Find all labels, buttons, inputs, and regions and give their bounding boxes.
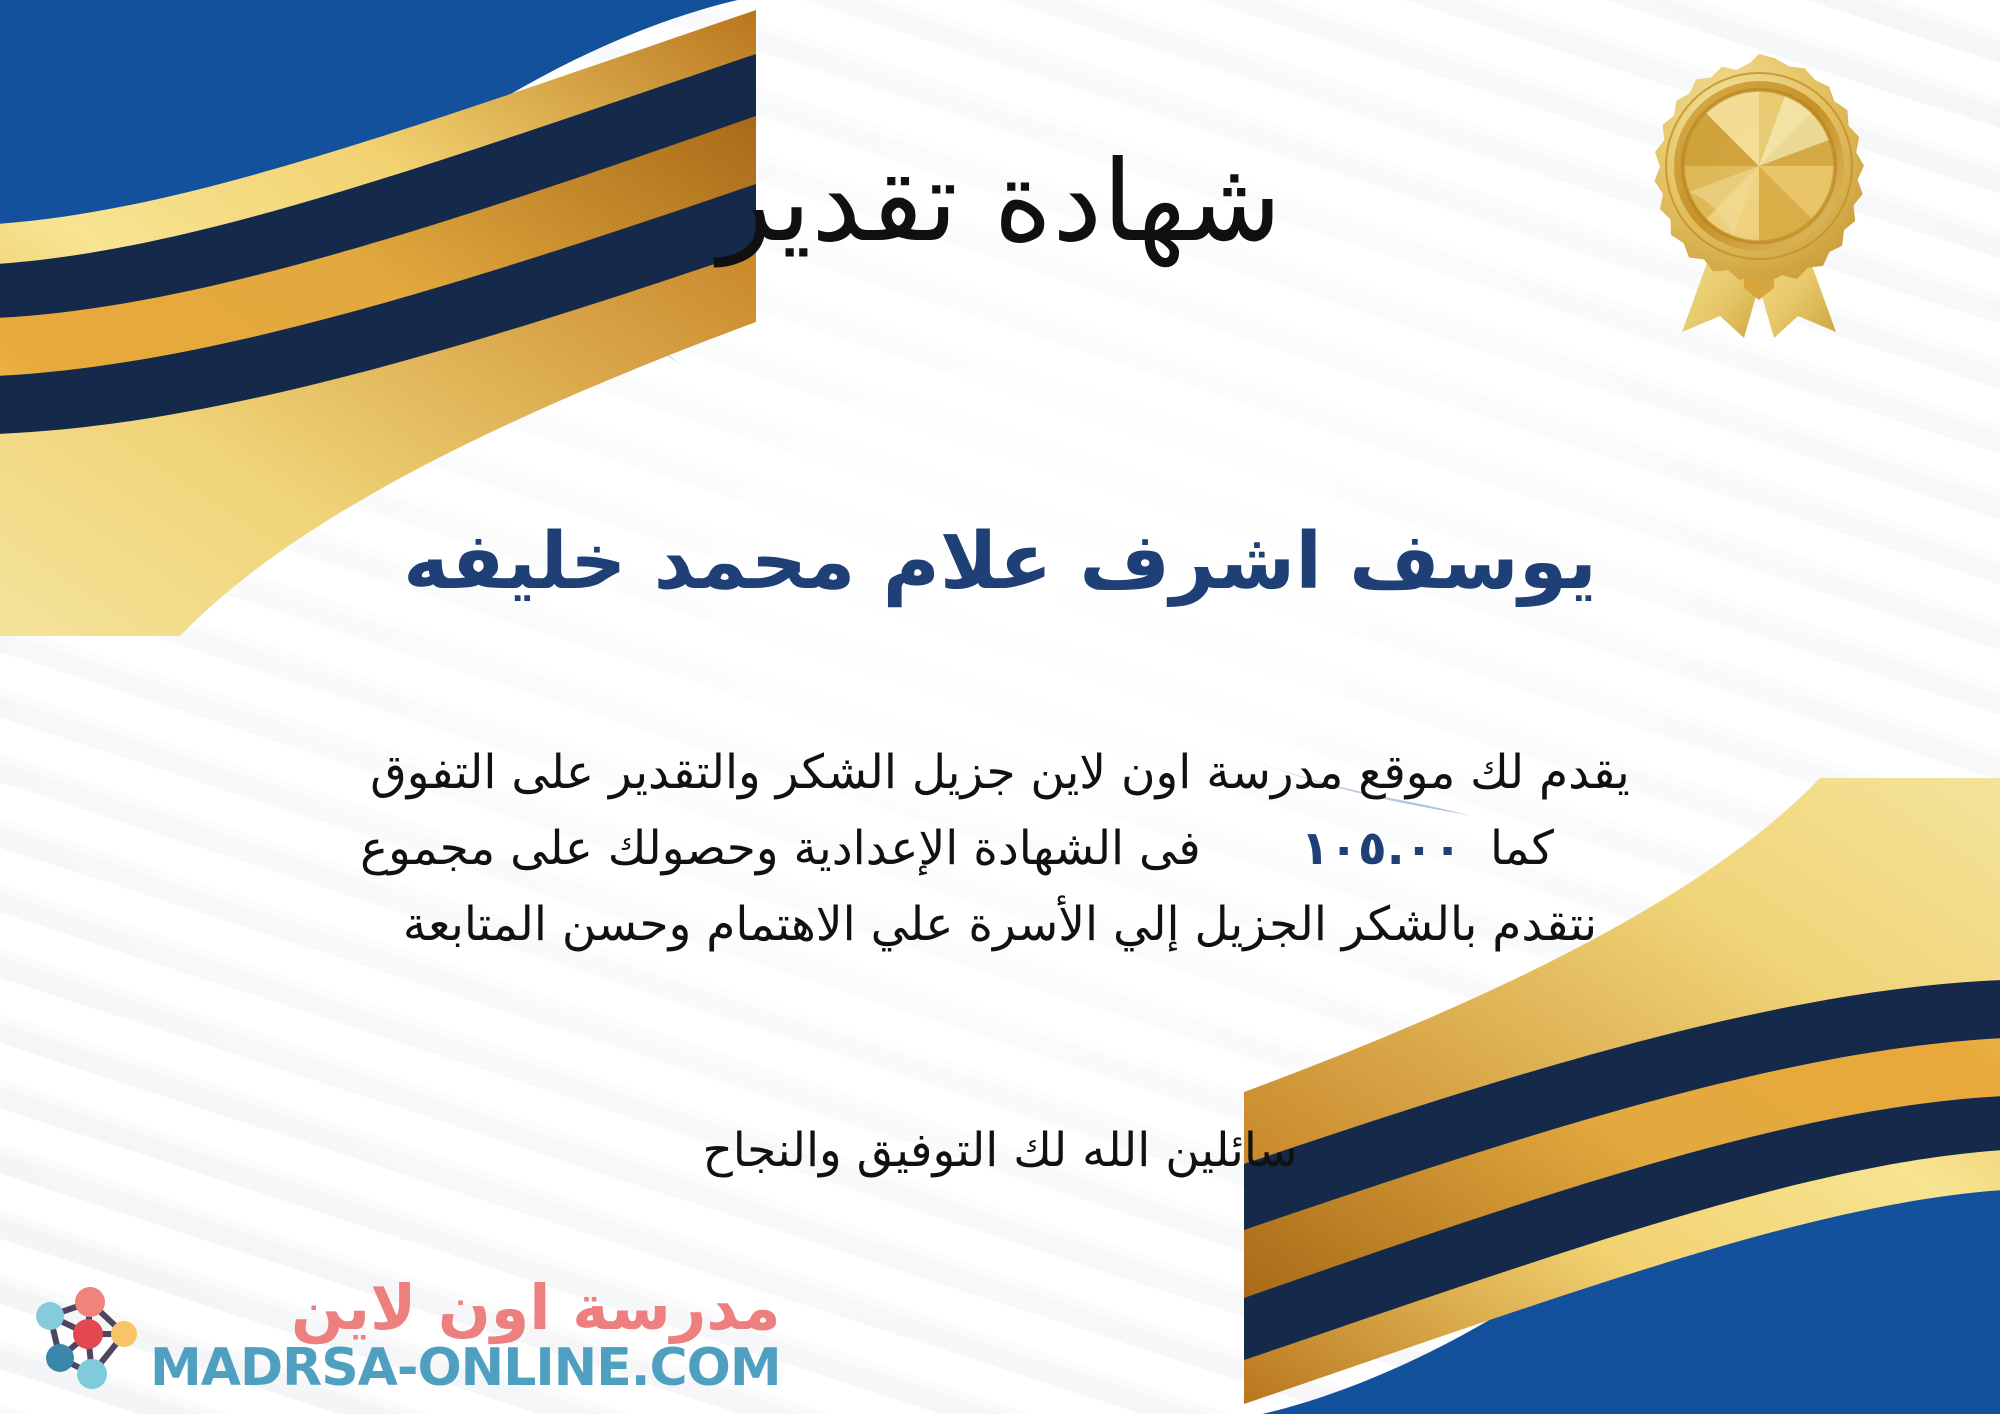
network-graph-icon	[22, 1276, 142, 1396]
body-line-2-prefix: فى الشهادة الإعدادية وحصولك على مجموع	[360, 811, 1201, 887]
body-line-2: كما ١٠٥.٠٠ فى الشهادة الإعدادية وحصولك ع…	[60, 811, 1940, 887]
body-line-3: نتقدم بالشكر الجزيل إلي الأسرة علي الاهت…	[60, 887, 1940, 963]
total-score-value: ١٠٥.٠٠	[1201, 811, 1476, 887]
body-line-1: يقدم لك موقع مدرسة اون لاين جزيل الشكر و…	[60, 735, 1940, 811]
brand-logo[interactable]: مدرسة اون لاين MADRSA-ONLINE.COM	[22, 1276, 781, 1396]
certificate-body: يقدم لك موقع مدرسة اون لاين جزيل الشكر و…	[60, 735, 1940, 963]
brand-text: مدرسة اون لاين MADRSA-ONLINE.COM	[150, 1276, 781, 1396]
certificate-document: شهادة تقدير يوسف اشرف علام محمد خليفه يق…	[0, 0, 2000, 1414]
body-line-2-suffix: كما	[1476, 811, 1640, 887]
brand-domain: MADRSA-ONLINE.COM	[150, 1341, 781, 1396]
closing-wish: سائلين الله لك التوفيق والنجاح	[0, 1116, 2000, 1187]
page-title: شهادة تقدير	[0, 140, 2000, 265]
student-name: يوسف اشرف علام محمد خليفه	[0, 516, 2000, 610]
brand-name-arabic: مدرسة اون لاين	[291, 1276, 781, 1340]
